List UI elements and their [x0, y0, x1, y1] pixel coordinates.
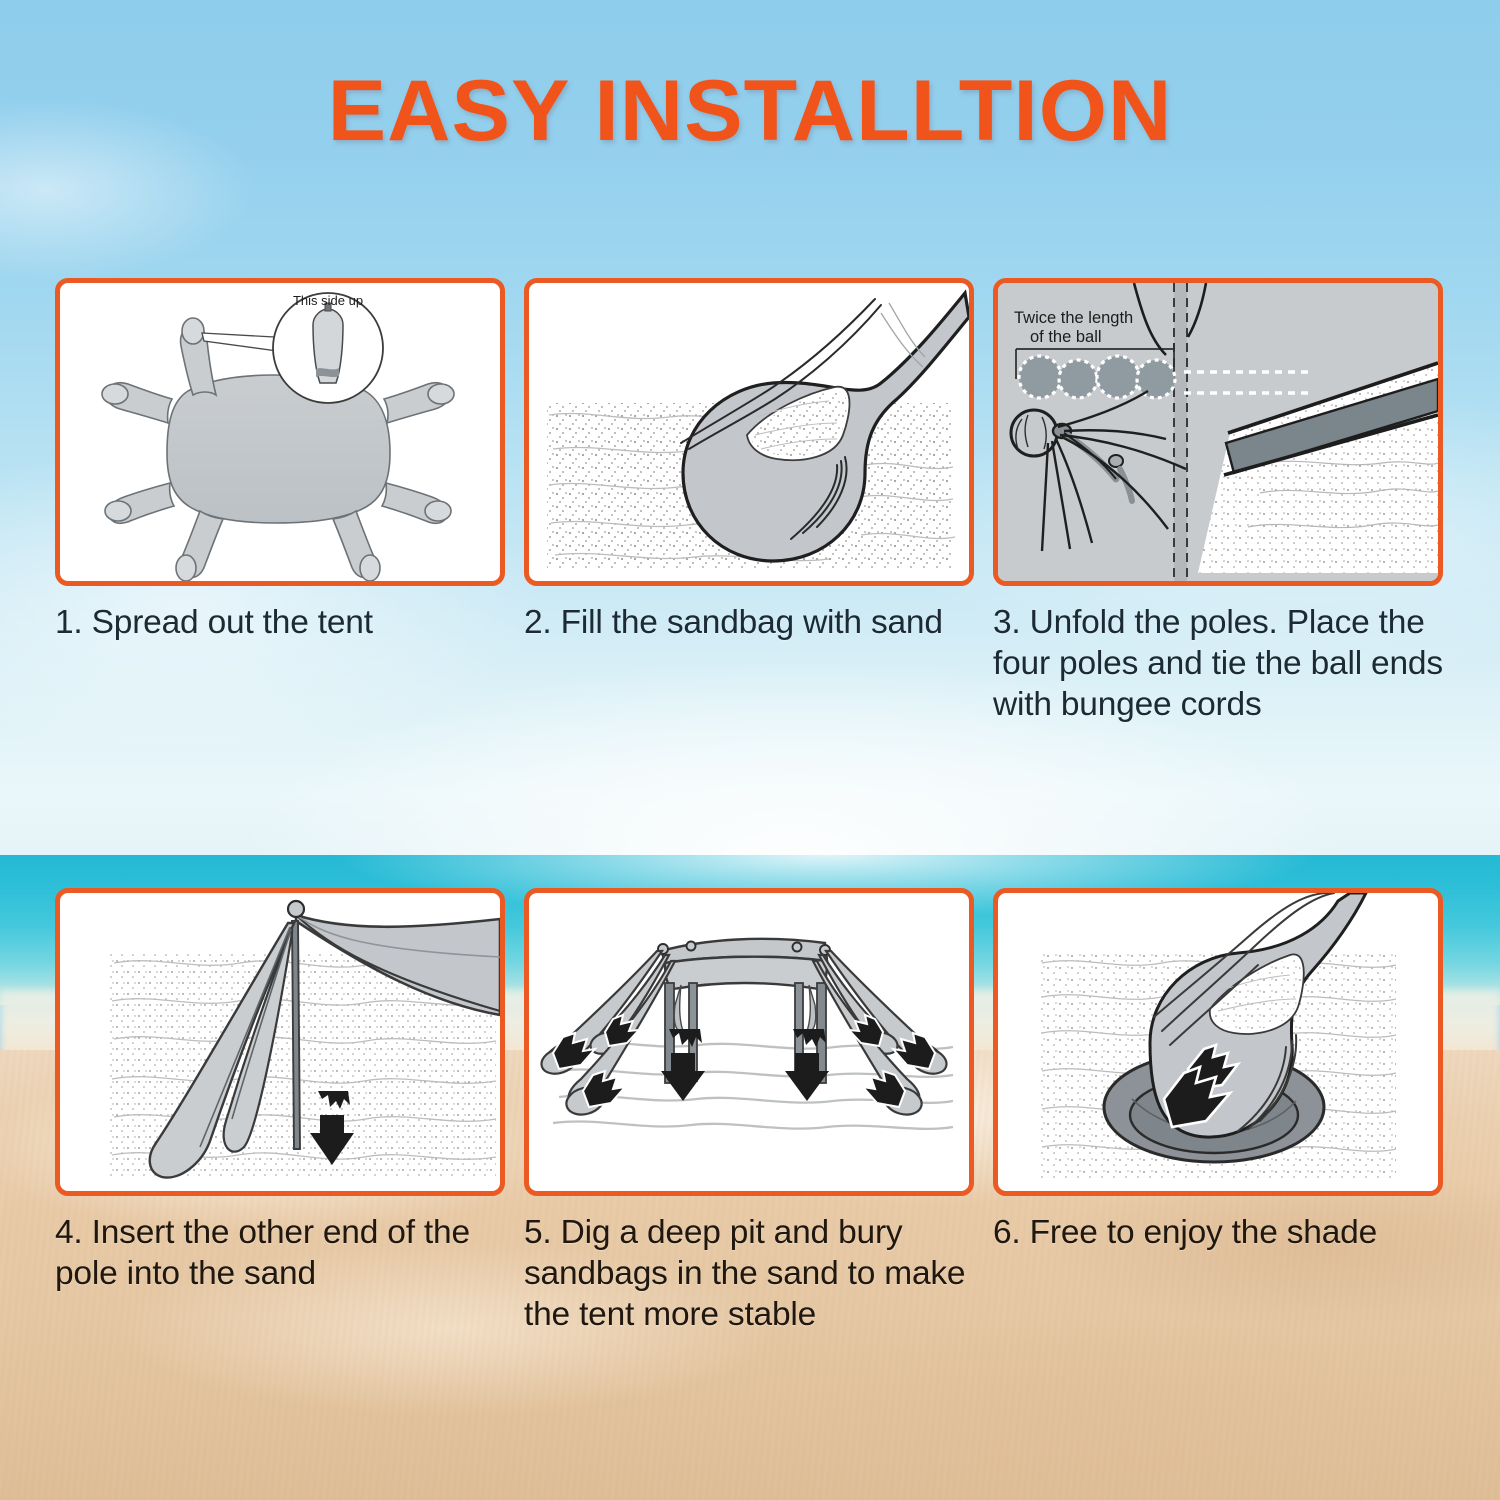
full-tent-anchors-icon: [529, 893, 969, 1191]
step-6-caption: 6. Free to enjoy the shade: [993, 1213, 1443, 1254]
step-1-illustration-frame: This side up: [55, 278, 505, 586]
pole-into-sand-icon: [60, 893, 500, 1191]
step-card-1: This side up 1. Spread out the tent: [55, 278, 505, 644]
step-card-4: 4. Insert the other end of the pole into…: [55, 888, 505, 1295]
twice-length-annotation-line1: Twice the length: [1014, 309, 1133, 327]
step-2-illustration-frame: [524, 278, 974, 586]
step-1-caption: 1. Spread out the tent: [55, 603, 505, 644]
step-5-illustration-frame: [524, 888, 974, 1196]
sandbag-filling-icon: [529, 283, 969, 581]
step-card-5: 5. Dig a deep pit and bury sandbags in t…: [524, 888, 974, 1336]
step-3-caption: 3. Unfold the poles. Place the four pole…: [993, 603, 1443, 726]
step-card-6: 6. Free to enjoy the shade: [993, 888, 1443, 1254]
sandbag-buried-icon: [998, 893, 1438, 1191]
this-side-up-annotation: This side up: [293, 293, 363, 308]
step-3-illustration-frame: Twice the length of the ball: [993, 278, 1443, 586]
step-card-3: Twice the length of the ball: [993, 278, 1443, 726]
step-card-2: 2. Fill the sandbag with sand: [524, 278, 974, 644]
step-2-caption: 2. Fill the sandbag with sand: [524, 603, 974, 644]
step-4-illustration-frame: [55, 888, 505, 1196]
page-title: EASY INSTALLTION: [0, 62, 1500, 161]
ball-end-bungee-cord-icon: Twice the length of the ball: [998, 283, 1438, 581]
step-4-caption: 4. Insert the other end of the pole into…: [55, 1213, 505, 1295]
step-5-caption: 5. Dig a deep pit and bury sandbags in t…: [524, 1213, 974, 1336]
tent-spread-flat-icon: This side up: [60, 283, 500, 581]
step-6-illustration-frame: [993, 888, 1443, 1196]
infographic-canvas: EASY INSTALLTION: [0, 0, 1500, 1500]
twice-length-annotation-line2: of the ball: [1030, 328, 1102, 346]
